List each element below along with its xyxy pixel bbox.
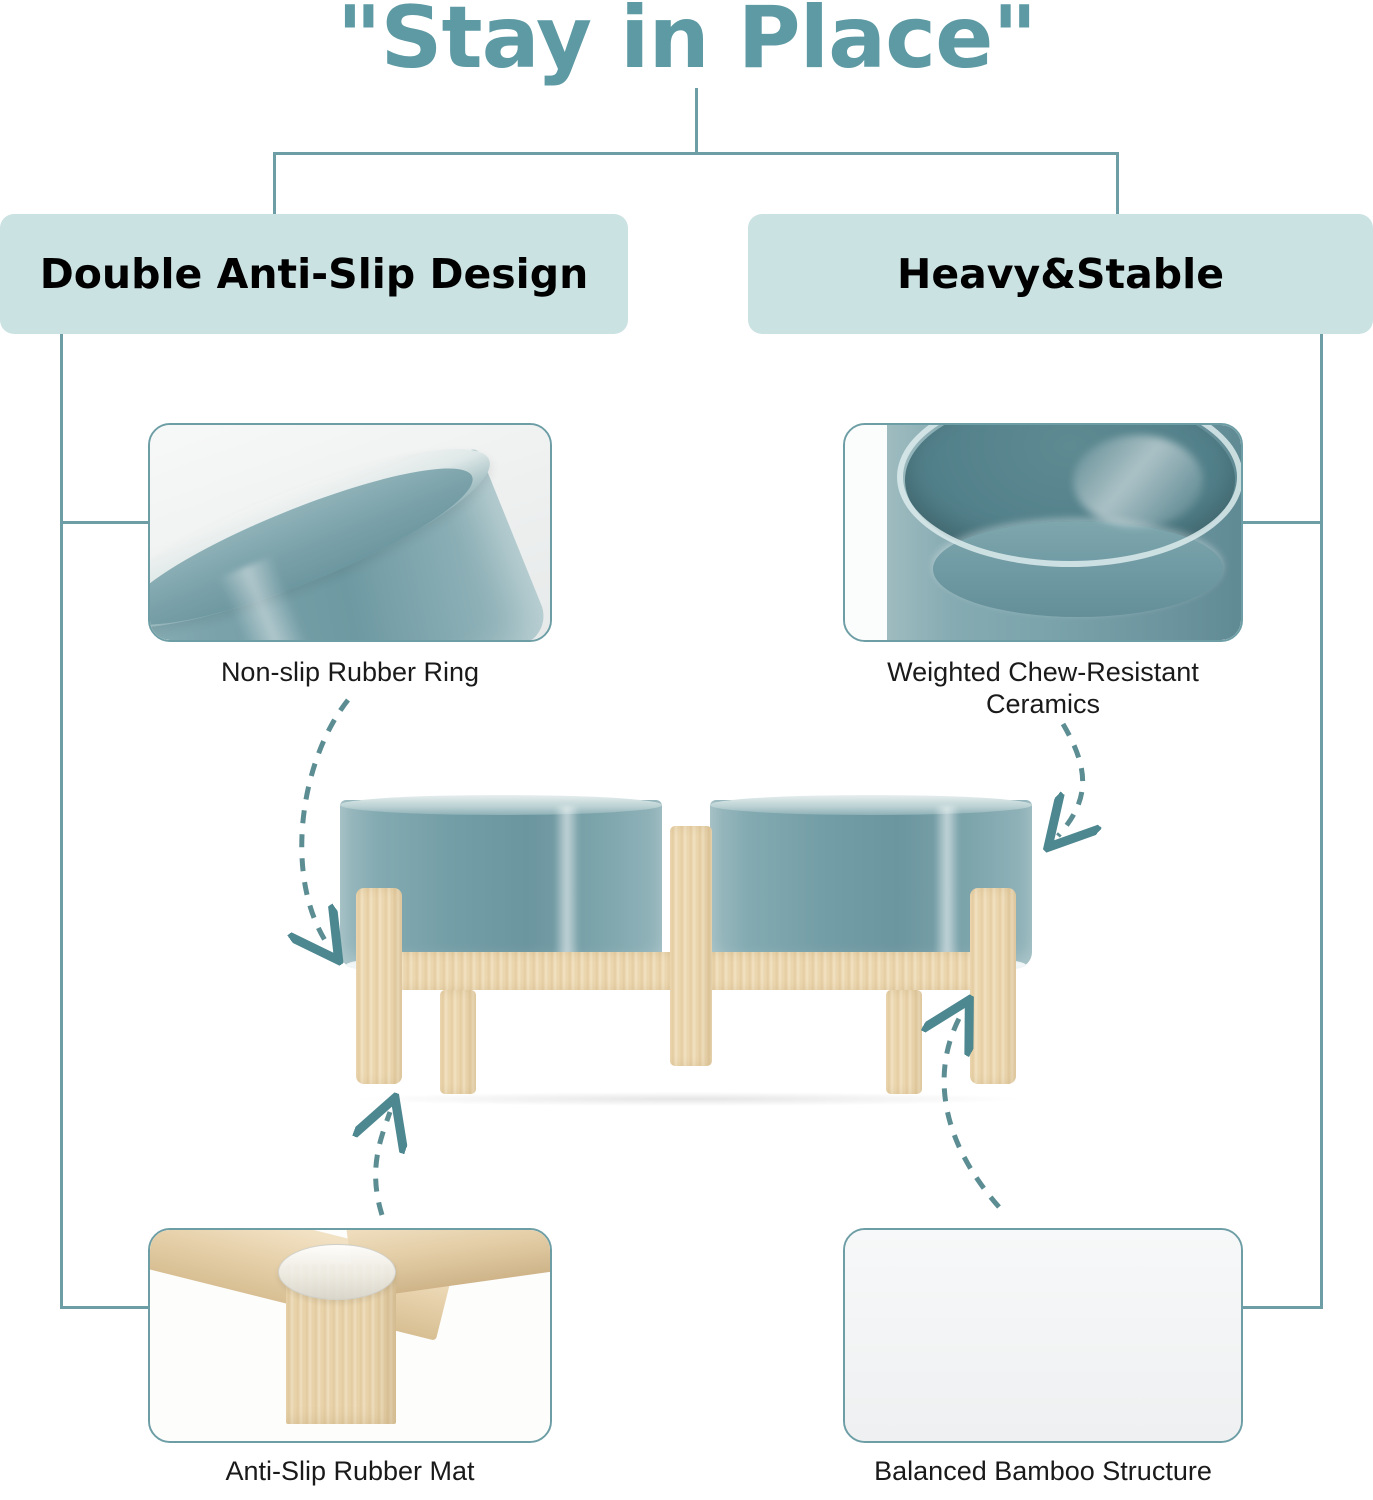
stand-leg-right-inner (886, 990, 922, 1094)
infographic-canvas: "Stay in Place" Double Anti-Slip Design … (0, 0, 1373, 1500)
stand-leg-left-inner (440, 990, 476, 1094)
product-photo-double-bowl-stand (318, 800, 1058, 1110)
feature-photo-anti-slip-rubber-mat[interactable] (148, 1228, 552, 1443)
feature-photo-weighted-ceramics[interactable] (843, 423, 1243, 642)
gloss-highlight (554, 806, 580, 956)
branch-label-double-anti-slip[interactable]: Double Anti-Slip Design (0, 214, 628, 334)
feature-caption-balanced-bamboo: Balanced Bamboo Structure (843, 1455, 1243, 1487)
right-spine-vertical (1320, 334, 1323, 1309)
gloss-highlight (1073, 435, 1203, 527)
feature-photo-non-slip-rubber-ring[interactable] (148, 423, 552, 642)
stand-center-post (670, 826, 712, 1066)
tree-drop-right (1116, 152, 1119, 216)
gloss-highlight (934, 806, 960, 956)
right-branch-line-top (1239, 521, 1323, 524)
bowl-right-rim (710, 795, 1032, 815)
bowl-left-rim (340, 795, 662, 815)
photo-scene-ceramic-interior (845, 425, 1241, 640)
photo-scene-bamboo-structure (845, 1230, 1241, 1441)
stand-leg-right-outer (970, 888, 1016, 1084)
right-branch-line-bottom (1239, 1306, 1323, 1309)
feature-caption-anti-slip-rubber-mat: Anti-Slip Rubber Mat (148, 1455, 552, 1487)
stand-leg-left-outer (356, 888, 402, 1084)
branch-label-left-text: Double Anti-Slip Design (40, 250, 589, 298)
feature-caption-weighted-ceramics: Weighted Chew-Resistant Ceramics (843, 656, 1243, 721)
branch-label-heavy-stable[interactable]: Heavy&Stable (748, 214, 1373, 334)
page-title: "Stay in Place" (0, 0, 1373, 88)
clear-rubber-pad (278, 1244, 396, 1300)
left-spine-vertical (60, 334, 63, 1309)
left-branch-line-bottom (60, 1306, 152, 1309)
branch-label-right-text: Heavy&Stable (897, 250, 1224, 298)
tree-stem-vertical (695, 88, 698, 154)
photo-backdrop (845, 1230, 1241, 1441)
left-branch-line-top (60, 521, 152, 524)
tree-top-horizontal-bar (273, 152, 1119, 155)
arrow-mat-to-leg (376, 1112, 390, 1215)
feature-caption-non-slip-rubber-ring: Non-slip Rubber Ring (148, 656, 552, 688)
photo-scene-rubber-ring (150, 425, 550, 640)
feature-photo-balanced-bamboo[interactable] (843, 1228, 1243, 1443)
photo-scene-rubber-mat (150, 1230, 550, 1441)
tree-drop-left (273, 152, 276, 216)
product-shadow (358, 1092, 1018, 1106)
arrow-ceramics-to-bowl (1058, 724, 1083, 836)
